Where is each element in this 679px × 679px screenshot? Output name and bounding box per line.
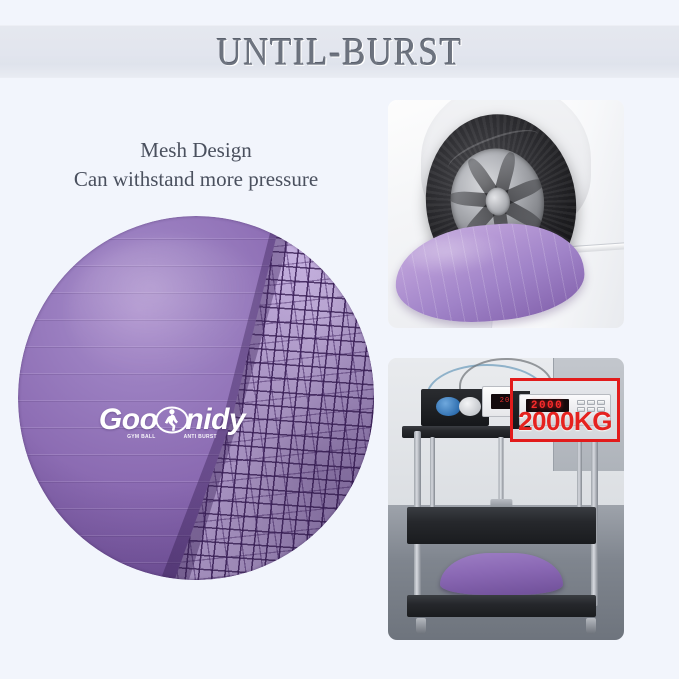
logo-subtext-right: ANTI BURST: [184, 434, 217, 440]
ball-outline: [18, 216, 374, 580]
machine-base-plate: [407, 595, 596, 618]
compressed-purple-ball: [391, 217, 587, 328]
logo-subtext: GYM BALL ANTI BURST: [127, 434, 217, 440]
support-post: [577, 437, 582, 516]
brand-logo: Goo nidy GYM BALL ANTI BURST: [99, 403, 245, 437]
control-unit: [421, 389, 489, 426]
logo-word-left: Goo: [99, 403, 158, 437]
header-banner: UNTIL-BURST: [0, 25, 679, 78]
logo-subtext-left: GYM BALL: [127, 434, 156, 440]
machine-press-plate: [407, 507, 596, 544]
logo-word-right: nidy: [185, 403, 245, 437]
page-title: UNTIL-BURST: [217, 29, 463, 74]
exercise-ball-illustration: Goo nidy GYM BALL ANTI BURST: [18, 216, 374, 580]
machine-caster: [416, 618, 426, 634]
figure-in-circle-icon: [154, 403, 188, 437]
press-ram: [499, 437, 504, 505]
callout-weight-label: 2000KG: [513, 406, 617, 437]
keypad-key: [587, 400, 595, 405]
weight-callout-box: 2000 2000KG: [510, 378, 620, 442]
photo-tire-on-ball: [388, 100, 624, 328]
feature-text-line-1: Mesh Design: [36, 136, 356, 165]
pressure-gauge-white: [459, 397, 481, 416]
keypad-key: [597, 400, 605, 405]
ball-rib-lines: [391, 217, 587, 328]
feature-text-line-2: Can withstand more pressure: [36, 165, 356, 194]
machine-caster: [586, 618, 596, 634]
pressure-gauge-blue: [436, 397, 461, 416]
keypad-key: [577, 400, 585, 405]
feature-text-block: Mesh Design Can withstand more pressure: [36, 136, 356, 194]
ball-under-press: [440, 553, 563, 595]
support-post: [430, 437, 435, 516]
ball-graphic: [18, 216, 374, 580]
photo-compression-test: 2000 2000 2000KG: [388, 358, 624, 640]
